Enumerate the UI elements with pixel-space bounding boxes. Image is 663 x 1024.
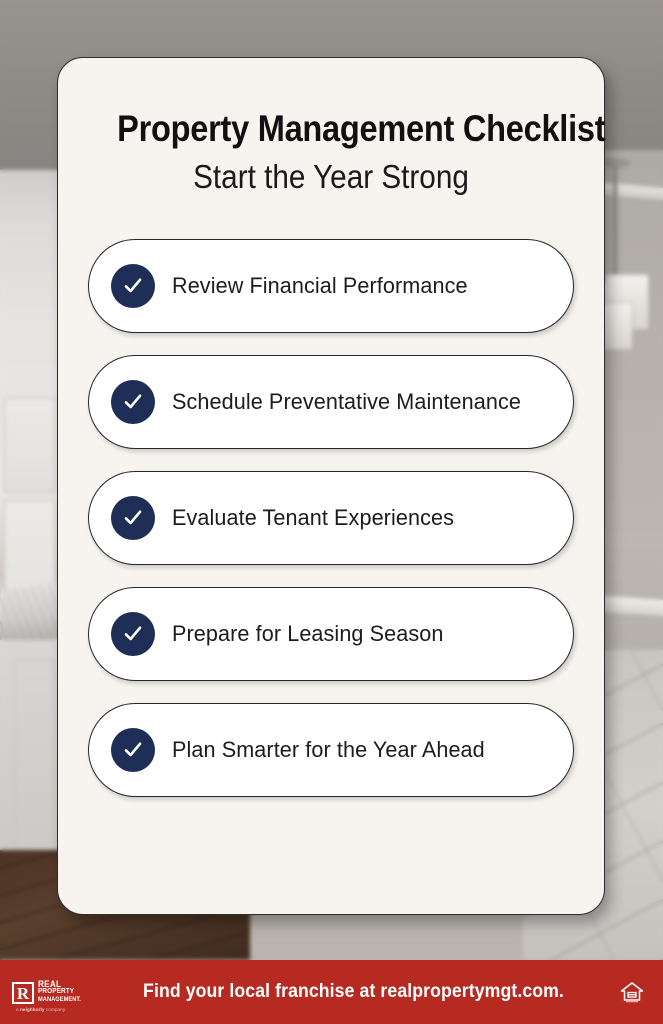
- logo-line-real: REAL: [38, 981, 81, 989]
- checkmark-icon: [111, 728, 155, 772]
- checkmark-icon: [111, 612, 155, 656]
- checkmark-icon: [111, 496, 155, 540]
- logo-wordmark: REAL PROPERTY MANAGEMENT.: [38, 981, 81, 1004]
- logo-line-property: PROPERTY: [38, 988, 81, 996]
- footer-cta-text: Find your local franchise at realpropert…: [107, 981, 601, 1003]
- checkmark-icon: [111, 380, 155, 424]
- equal-housing-opportunity-icon: [619, 979, 645, 1005]
- page-title: Property Management Checklist: [117, 108, 545, 150]
- checklist-item[interactable]: Plan Smarter for the Year Ahead: [88, 703, 574, 797]
- checklist-item-label: Plan Smarter for the Year Ahead: [172, 737, 485, 763]
- brand-logo[interactable]: R REAL PROPERTY MANAGEMENT.: [12, 981, 112, 1004]
- checklist-item-label: Review Financial Performance: [172, 273, 468, 299]
- logo-line-management: MANAGEMENT.: [38, 996, 81, 1004]
- checklist-item-label: Schedule Preventative Maintenance: [172, 389, 521, 415]
- checklist: Review Financial Performance Schedule Pr…: [88, 239, 574, 797]
- logo-r-mark: R: [12, 982, 34, 1004]
- checklist-item[interactable]: Prepare for Leasing Season: [88, 587, 574, 681]
- checklist-card: Property Management Checklist Start the …: [57, 57, 605, 915]
- tagline-suffix: company: [45, 1007, 66, 1012]
- footer-bar: R REAL PROPERTY MANAGEMENT. a neighborly…: [0, 960, 663, 1024]
- checklist-item-label: Evaluate Tenant Experiences: [172, 505, 454, 531]
- checklist-item-label: Prepare for Leasing Season: [172, 621, 443, 647]
- checklist-item[interactable]: Evaluate Tenant Experiences: [88, 471, 574, 565]
- page-subtitle: Start the Year Strong: [112, 158, 549, 196]
- logo-tagline: a neighborly company: [16, 1007, 65, 1012]
- tagline-brand: neighborly: [20, 1007, 44, 1012]
- checklist-item[interactable]: Schedule Preventative Maintenance: [88, 355, 574, 449]
- checkmark-icon: [111, 264, 155, 308]
- checklist-item[interactable]: Review Financial Performance: [88, 239, 574, 333]
